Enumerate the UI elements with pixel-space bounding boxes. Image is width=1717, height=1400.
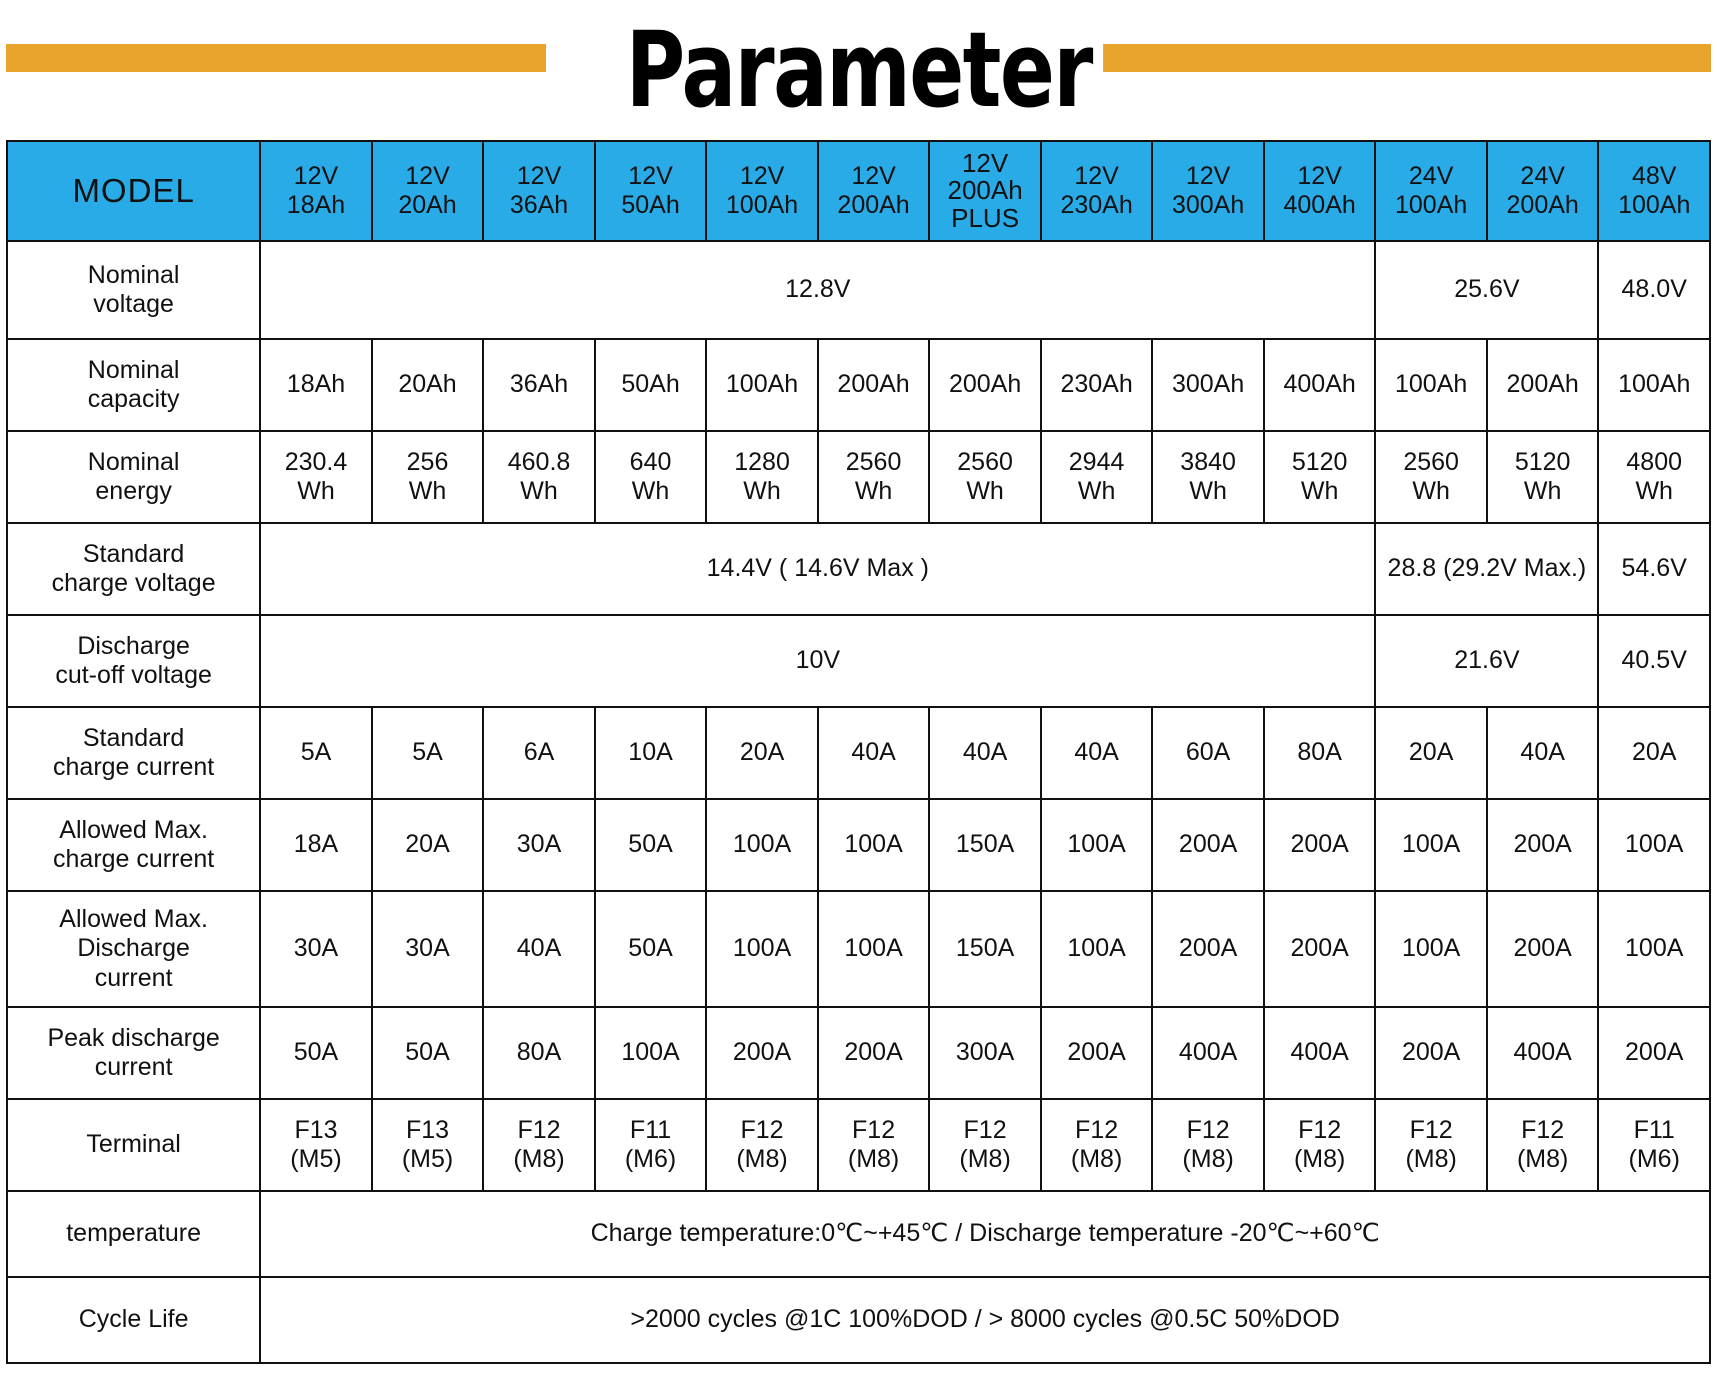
header-col-2: 12V 36Ah	[483, 141, 595, 241]
cell-terminal-2: F12 (M8)	[483, 1099, 595, 1191]
terminal-size: (M8)	[1489, 1145, 1597, 1175]
cell-maxchg-11: 200A	[1487, 799, 1599, 891]
cell-maxchg-4: 100A	[706, 799, 818, 891]
row-label-line: Nominal	[9, 448, 258, 478]
cell-peak-9: 400A	[1264, 1007, 1376, 1099]
energy-value: 2944	[1043, 448, 1151, 478]
energy-unit: Wh	[708, 477, 816, 507]
cell-peak-11: 400A	[1487, 1007, 1599, 1099]
cell-maxchg-3: 50A	[595, 799, 707, 891]
header-capacity: 200Ah	[931, 177, 1039, 204]
header-voltage: 24V	[1489, 162, 1597, 192]
cell-cutoff-24v: 21.6V	[1375, 615, 1598, 707]
row-label-temperature: temperature	[7, 1191, 260, 1277]
row-label-line: cut-off voltage	[9, 661, 258, 691]
cell-nominal-voltage-24v: 25.6V	[1375, 241, 1598, 339]
cell-peak-7: 200A	[1041, 1007, 1153, 1099]
header-col-6: 12V 200Ah PLUS	[929, 141, 1041, 241]
header-voltage: 12V	[485, 162, 593, 192]
cell-chgc-6: 40A	[929, 707, 1041, 799]
cell-maxchg-0: 18A	[260, 799, 372, 891]
cell-energy-5: 2560 Wh	[818, 431, 930, 523]
energy-unit: Wh	[1043, 477, 1151, 507]
terminal-size: (M8)	[931, 1145, 1039, 1175]
header-row: MODEL 12V 18Ah 12V 20Ah 12V 36Ah 12V 50A…	[7, 141, 1710, 241]
cell-chgc-1: 5A	[372, 707, 484, 799]
table-row: Allowed Max. Discharge current 30A 30A 4…	[7, 891, 1710, 1007]
energy-unit: Wh	[1600, 477, 1708, 507]
cell-maxchg-6: 150A	[929, 799, 1041, 891]
energy-value: 2560	[820, 448, 928, 478]
cell-maxdis-0: 30A	[260, 891, 372, 1007]
cell-charge-voltage-48v: 54.6V	[1598, 523, 1710, 615]
cell-energy-6: 2560 Wh	[929, 431, 1041, 523]
energy-value: 460.8	[485, 448, 593, 478]
cell-peak-8: 400A	[1152, 1007, 1264, 1099]
terminal-type: F12	[1489, 1116, 1597, 1146]
terminal-type: F13	[374, 1116, 482, 1146]
row-label-cycle-life: Cycle Life	[7, 1277, 260, 1363]
cell-terminal-0: F13 (M5)	[260, 1099, 372, 1191]
energy-value: 640	[597, 448, 705, 478]
energy-unit: Wh	[597, 477, 705, 507]
table-row: Standard charge voltage 14.4V ( 14.6V Ma…	[7, 523, 1710, 615]
header-col-9: 12V 400Ah	[1264, 141, 1376, 241]
cell-terminal-12: F11 (M6)	[1598, 1099, 1710, 1191]
cell-peak-6: 300A	[929, 1007, 1041, 1099]
energy-unit: Wh	[485, 477, 593, 507]
cell-chgc-11: 40A	[1487, 707, 1599, 799]
cell-peak-4: 200A	[706, 1007, 818, 1099]
cell-nominal-voltage-12v: 12.8V	[260, 241, 1375, 339]
cell-terminal-1: F13 (M5)	[372, 1099, 484, 1191]
row-label-line: charge current	[9, 753, 258, 783]
header-capacity: 230Ah	[1043, 191, 1151, 221]
cell-chgc-2: 6A	[483, 707, 595, 799]
page-title-banner: Parameter	[0, 0, 1717, 140]
terminal-type: F12	[820, 1116, 928, 1146]
cell-terminal-10: F12 (M8)	[1375, 1099, 1487, 1191]
cell-chgc-7: 40A	[1041, 707, 1153, 799]
energy-value: 5120	[1266, 448, 1374, 478]
header-col-4: 12V 100Ah	[706, 141, 818, 241]
spec-table-wrapper: MODEL 12V 18Ah 12V 20Ah 12V 36Ah 12V 50A…	[0, 140, 1717, 1364]
row-label-line: charge voltage	[9, 569, 258, 599]
cell-maxdis-6: 150A	[929, 891, 1041, 1007]
cell-maxchg-9: 200A	[1264, 799, 1376, 891]
cell-peak-0: 50A	[260, 1007, 372, 1099]
table-row: temperature Charge temperature:0℃~+45℃ /…	[7, 1191, 1710, 1277]
cell-maxchg-7: 100A	[1041, 799, 1153, 891]
cell-maxdis-2: 40A	[483, 891, 595, 1007]
cell-terminal-9: F12 (M8)	[1264, 1099, 1376, 1191]
row-label-line: Standard	[9, 724, 258, 754]
cell-chgc-9: 80A	[1264, 707, 1376, 799]
terminal-type: F12	[931, 1116, 1039, 1146]
energy-unit: Wh	[1377, 477, 1485, 507]
header-voltage: 24V	[1377, 162, 1485, 192]
header-voltage: 12V	[820, 162, 928, 192]
energy-unit: Wh	[931, 477, 1039, 507]
cell-capacity-3: 50Ah	[595, 339, 707, 431]
header-capacity: 200Ah	[1489, 191, 1597, 221]
cell-energy-2: 460.8 Wh	[483, 431, 595, 523]
header-voltage: 12V	[374, 162, 482, 192]
cell-capacity-5: 200Ah	[818, 339, 930, 431]
row-label-line: charge current	[9, 845, 258, 875]
energy-unit: Wh	[1154, 477, 1262, 507]
energy-value: 5120	[1489, 448, 1597, 478]
row-label-line: current	[9, 1053, 258, 1083]
gold-bar-right	[1041, 44, 1711, 72]
table-row: Terminal F13 (M5) F13 (M5) F12 (M8) F11 …	[7, 1099, 1710, 1191]
cell-maxdis-12: 100A	[1598, 891, 1710, 1007]
table-header: MODEL 12V 18Ah 12V 20Ah 12V 36Ah 12V 50A…	[7, 141, 1710, 241]
header-model: MODEL	[7, 141, 260, 241]
header-voltage: 12V	[931, 150, 1039, 177]
cell-terminal-11: F12 (M8)	[1487, 1099, 1599, 1191]
cell-capacity-11: 200Ah	[1487, 339, 1599, 431]
cell-chgc-4: 20A	[706, 707, 818, 799]
row-label-line: Allowed Max.	[9, 816, 258, 846]
cell-capacity-9: 400Ah	[1264, 339, 1376, 431]
header-voltage: 12V	[708, 162, 816, 192]
cell-chgc-12: 20A	[1598, 707, 1710, 799]
header-col-5: 12V 200Ah	[818, 141, 930, 241]
terminal-type: F12	[485, 1116, 593, 1146]
header-capacity: 100Ah	[1377, 191, 1485, 221]
header-capacity: 20Ah	[374, 191, 482, 221]
header-capacity: 18Ah	[262, 191, 370, 221]
table-row: Allowed Max. charge current 18A 20A 30A …	[7, 799, 1710, 891]
header-col-1: 12V 20Ah	[372, 141, 484, 241]
cell-maxdis-9: 200A	[1264, 891, 1376, 1007]
energy-value: 1280	[708, 448, 816, 478]
cell-energy-8: 3840 Wh	[1152, 431, 1264, 523]
row-label-discharge-cutoff-voltage: Discharge cut-off voltage	[7, 615, 260, 707]
cell-peak-12: 200A	[1598, 1007, 1710, 1099]
cell-cutoff-48v: 40.5V	[1598, 615, 1710, 707]
header-plus-badge: PLUS	[931, 205, 1039, 232]
cell-energy-10: 2560 Wh	[1375, 431, 1487, 523]
energy-unit: Wh	[374, 477, 482, 507]
header-capacity: 100Ah	[1600, 191, 1708, 221]
cell-cutoff-12v: 10V	[260, 615, 1375, 707]
table-row: Nominal voltage 12.8V 25.6V 48.0V	[7, 241, 1710, 339]
cell-capacity-4: 100Ah	[706, 339, 818, 431]
header-col-7: 12V 230Ah	[1041, 141, 1153, 241]
cell-charge-voltage-12v: 14.4V ( 14.6V Max )	[260, 523, 1375, 615]
row-label-line: Discharge	[9, 934, 258, 964]
header-voltage: 12V	[1043, 162, 1151, 192]
row-label-line: current	[9, 964, 258, 994]
cell-energy-1: 256 Wh	[372, 431, 484, 523]
cell-maxdis-3: 50A	[595, 891, 707, 1007]
row-label-line: Nominal	[9, 261, 258, 291]
terminal-size: (M6)	[1600, 1145, 1708, 1175]
cell-capacity-0: 18Ah	[260, 339, 372, 431]
table-row: Nominal energy 230.4 Wh 256 Wh 460.8 Wh …	[7, 431, 1710, 523]
terminal-size: (M5)	[262, 1145, 370, 1175]
cell-maxdis-7: 100A	[1041, 891, 1153, 1007]
cell-energy-0: 230.4 Wh	[260, 431, 372, 523]
gold-bar-left	[6, 44, 546, 72]
cell-chgc-0: 5A	[260, 707, 372, 799]
cell-energy-7: 2944 Wh	[1041, 431, 1153, 523]
header-capacity: 50Ah	[597, 191, 705, 221]
energy-unit: Wh	[1489, 477, 1597, 507]
row-label-nominal-capacity: Nominal capacity	[7, 339, 260, 431]
cell-maxdis-4: 100A	[706, 891, 818, 1007]
header-voltage: 48V	[1600, 162, 1708, 192]
terminal-type: F12	[1377, 1116, 1485, 1146]
cell-maxchg-1: 20A	[372, 799, 484, 891]
cell-maxchg-12: 100A	[1598, 799, 1710, 891]
cell-capacity-12: 100Ah	[1598, 339, 1710, 431]
row-label-allowed-max-discharge-current: Allowed Max. Discharge current	[7, 891, 260, 1007]
cell-capacity-1: 20Ah	[372, 339, 484, 431]
cell-terminal-6: F12 (M8)	[929, 1099, 1041, 1191]
row-label-line: energy	[9, 477, 258, 507]
cell-terminal-8: F12 (M8)	[1152, 1099, 1264, 1191]
terminal-size: (M8)	[485, 1145, 593, 1175]
row-label-standard-charge-voltage: Standard charge voltage	[7, 523, 260, 615]
cell-maxdis-10: 100A	[1375, 891, 1487, 1007]
header-voltage: 12V	[1266, 162, 1374, 192]
cell-chgc-10: 20A	[1375, 707, 1487, 799]
terminal-type: F12	[708, 1116, 816, 1146]
row-label-line: Discharge	[9, 632, 258, 662]
cell-peak-2: 80A	[483, 1007, 595, 1099]
cell-maxchg-5: 100A	[818, 799, 930, 891]
header-col-12: 48V 100Ah	[1598, 141, 1710, 241]
header-col-0: 12V 18Ah	[260, 141, 372, 241]
terminal-size: (M8)	[1154, 1145, 1262, 1175]
energy-value: 4800	[1600, 448, 1708, 478]
cell-nominal-voltage-48v: 48.0V	[1598, 241, 1710, 339]
cell-maxchg-2: 30A	[483, 799, 595, 891]
header-voltage: 12V	[1154, 162, 1262, 192]
cell-terminal-3: F11 (M6)	[595, 1099, 707, 1191]
cell-capacity-6: 200Ah	[929, 339, 1041, 431]
cell-temperature-value: Charge temperature:0℃~+45℃ / Discharge t…	[260, 1191, 1710, 1277]
header-col-3: 12V 50Ah	[595, 141, 707, 241]
header-voltage: 12V	[597, 162, 705, 192]
cell-maxdis-1: 30A	[372, 891, 484, 1007]
energy-value: 2560	[931, 448, 1039, 478]
row-label-terminal: Terminal	[7, 1099, 260, 1191]
cell-energy-12: 4800 Wh	[1598, 431, 1710, 523]
table-row: Standard charge current 5A 5A 6A 10A 20A…	[7, 707, 1710, 799]
cell-maxchg-8: 200A	[1152, 799, 1264, 891]
cell-peak-5: 200A	[818, 1007, 930, 1099]
battery-spec-table: MODEL 12V 18Ah 12V 20Ah 12V 36Ah 12V 50A…	[6, 140, 1711, 1364]
terminal-size: (M6)	[597, 1145, 705, 1175]
table-row: Discharge cut-off voltage 10V 21.6V 40.5…	[7, 615, 1710, 707]
cell-charge-voltage-24v: 28.8 (29.2V Max.)	[1375, 523, 1598, 615]
cell-energy-9: 5120 Wh	[1264, 431, 1376, 523]
cell-maxdis-5: 100A	[818, 891, 930, 1007]
energy-value: 2560	[1377, 448, 1485, 478]
terminal-size: (M8)	[708, 1145, 816, 1175]
row-label-nominal-energy: Nominal energy	[7, 431, 260, 523]
cell-capacity-2: 36Ah	[483, 339, 595, 431]
cell-cycle-life-value: >2000 cycles @1C 100%DOD / > 8000 cycles…	[260, 1277, 1710, 1363]
header-capacity: 300Ah	[1154, 191, 1262, 221]
terminal-type: F13	[262, 1116, 370, 1146]
row-label-line: Standard	[9, 540, 258, 570]
header-capacity: 200Ah	[820, 191, 928, 221]
energy-value: 256	[374, 448, 482, 478]
row-label-line: capacity	[9, 385, 258, 415]
row-label-line: Peak discharge	[9, 1024, 258, 1054]
row-label-standard-charge-current: Standard charge current	[7, 707, 260, 799]
terminal-size: (M8)	[820, 1145, 928, 1175]
cell-chgc-5: 40A	[818, 707, 930, 799]
energy-unit: Wh	[1266, 477, 1374, 507]
terminal-size: (M5)	[374, 1145, 482, 1175]
cell-terminal-5: F12 (M8)	[818, 1099, 930, 1191]
terminal-type: F12	[1043, 1116, 1151, 1146]
table-row: Peak discharge current 50A 50A 80A 100A …	[7, 1007, 1710, 1099]
header-voltage: 12V	[262, 162, 370, 192]
page-title: Parameter	[615, 18, 1103, 122]
table-row: Cycle Life >2000 cycles @1C 100%DOD / > …	[7, 1277, 1710, 1363]
cell-capacity-10: 100Ah	[1375, 339, 1487, 431]
terminal-type: F12	[1266, 1116, 1374, 1146]
terminal-size: (M8)	[1043, 1145, 1151, 1175]
row-label-line: Allowed Max.	[9, 905, 258, 935]
table-row: Nominal capacity 18Ah 20Ah 36Ah 50Ah 100…	[7, 339, 1710, 431]
cell-chgc-8: 60A	[1152, 707, 1264, 799]
cell-maxdis-11: 200A	[1487, 891, 1599, 1007]
cell-peak-10: 200A	[1375, 1007, 1487, 1099]
terminal-type: F12	[1154, 1116, 1262, 1146]
header-capacity: 100Ah	[708, 191, 816, 221]
cell-maxdis-8: 200A	[1152, 891, 1264, 1007]
cell-peak-3: 100A	[595, 1007, 707, 1099]
energy-unit: Wh	[820, 477, 928, 507]
table-body: Nominal voltage 12.8V 25.6V 48.0V Nomina…	[7, 241, 1710, 1363]
terminal-size: (M8)	[1266, 1145, 1374, 1175]
cell-peak-1: 50A	[372, 1007, 484, 1099]
header-capacity: 36Ah	[485, 191, 593, 221]
cell-terminal-4: F12 (M8)	[706, 1099, 818, 1191]
cell-capacity-8: 300Ah	[1152, 339, 1264, 431]
energy-value: 230.4	[262, 448, 370, 478]
cell-chgc-3: 10A	[595, 707, 707, 799]
header-capacity: 400Ah	[1266, 191, 1374, 221]
row-label-peak-discharge-current: Peak discharge current	[7, 1007, 260, 1099]
row-label-nominal-voltage: Nominal voltage	[7, 241, 260, 339]
cell-energy-11: 5120 Wh	[1487, 431, 1599, 523]
header-col-11: 24V 200Ah	[1487, 141, 1599, 241]
energy-value: 3840	[1154, 448, 1262, 478]
terminal-size: (M8)	[1377, 1145, 1485, 1175]
cell-energy-3: 640 Wh	[595, 431, 707, 523]
header-col-8: 12V 300Ah	[1152, 141, 1264, 241]
cell-terminal-7: F12 (M8)	[1041, 1099, 1153, 1191]
energy-unit: Wh	[262, 477, 370, 507]
cell-energy-4: 1280 Wh	[706, 431, 818, 523]
cell-maxchg-10: 100A	[1375, 799, 1487, 891]
header-col-10: 24V 100Ah	[1375, 141, 1487, 241]
row-label-line: voltage	[9, 290, 258, 320]
terminal-type: F11	[1600, 1116, 1708, 1146]
row-label-allowed-max-charge-current: Allowed Max. charge current	[7, 799, 260, 891]
cell-capacity-7: 230Ah	[1041, 339, 1153, 431]
row-label-line: Nominal	[9, 356, 258, 386]
terminal-type: F11	[597, 1116, 705, 1146]
